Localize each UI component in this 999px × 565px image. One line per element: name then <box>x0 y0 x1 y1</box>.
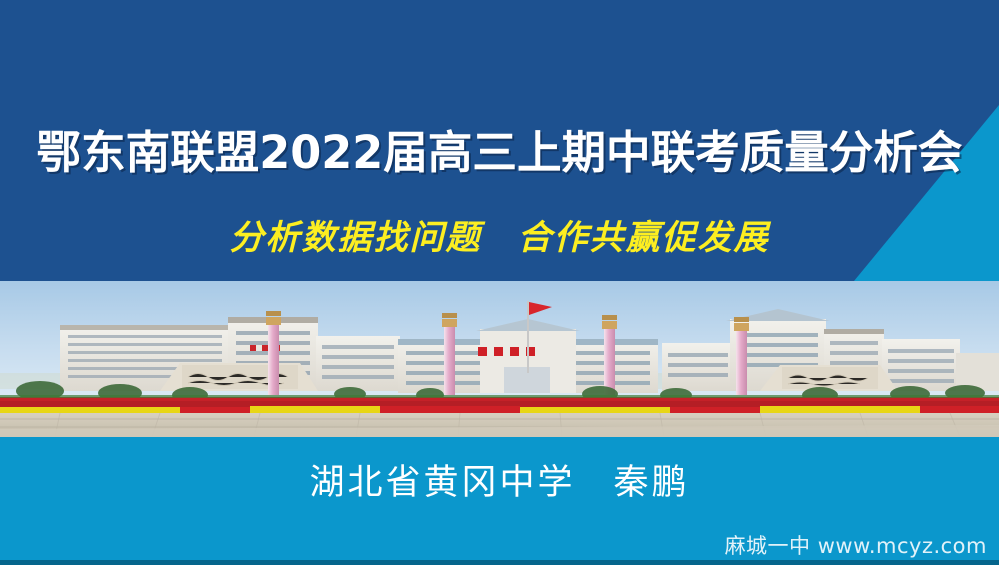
bottom-edge-strip <box>0 560 999 565</box>
slide-canvas: 鄂东南联盟2022届高三上期中联考质量分析会 分析数据找问题 合作共赢促发展 <box>0 0 999 565</box>
watermark: 麻城一中 www.mcyz.com <box>725 533 987 559</box>
page-subtitle: 分析数据找问题 合作共赢促发展 <box>0 215 999 261</box>
page-title: 鄂东南联盟2022届高三上期中联考质量分析会 <box>5 124 994 182</box>
presenter-line: 湖北省黄冈中学 秦鹏 <box>0 458 999 508</box>
campus-photo <box>0 281 999 437</box>
